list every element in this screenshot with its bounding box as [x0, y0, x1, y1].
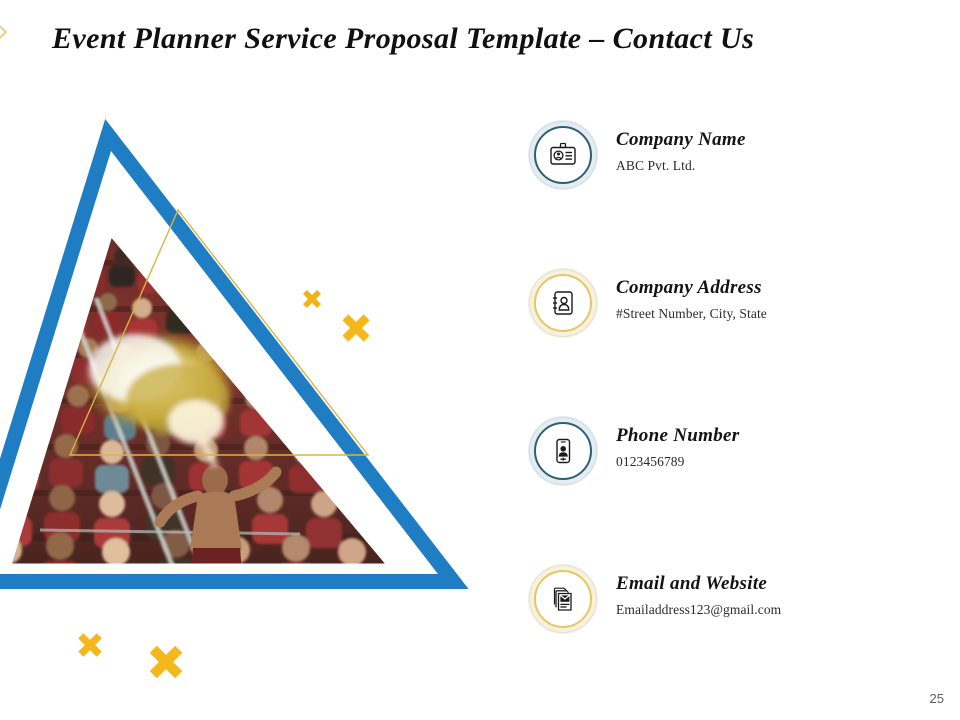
document-envelope-icon — [534, 570, 592, 628]
artwork-panel — [0, 110, 470, 640]
contact-list: Company Name ABC Pvt. Ltd. Company Addre… — [534, 126, 944, 666]
page-number: 25 — [930, 691, 944, 706]
contact-text-block: Phone Number 0123456789 — [616, 424, 936, 471]
contact-value: #Street Number, City, State — [616, 305, 936, 323]
contact-row-phone-number: Phone Number 0123456789 — [534, 422, 944, 570]
cross-mark-icon-2 — [341, 313, 371, 343]
mobile-contact-icon — [534, 422, 592, 480]
contact-value: ABC Pvt. Ltd. — [616, 157, 936, 175]
cross-mark-icon-4 — [148, 644, 184, 680]
contact-title: Company Address — [616, 276, 936, 300]
id-badge-icon — [534, 126, 592, 184]
page-title: Event Planner Service Proposal Template … — [52, 22, 912, 56]
contact-text-block: Company Address #Street Number, City, St… — [616, 276, 936, 323]
contact-row-company-address: Company Address #Street Number, City, St… — [534, 274, 944, 422]
contact-text-block: Email and Website Emailaddress123@gmail.… — [616, 572, 936, 619]
contact-text-block: Company Name ABC Pvt. Ltd. — [616, 128, 936, 175]
contact-value: 0123456789 — [616, 453, 936, 471]
contact-title: Phone Number — [616, 424, 936, 448]
contact-row-email-website: Email and Website Emailaddress123@gmail.… — [534, 570, 944, 666]
cross-mark-icon-3 — [77, 632, 103, 658]
slide-canvas: Event Planner Service Proposal Template … — [0, 0, 960, 720]
contact-title: Email and Website — [616, 572, 936, 596]
address-book-icon — [534, 274, 592, 332]
contact-title: Company Name — [616, 128, 936, 152]
header-chevron-icon — [0, 0, 34, 66]
contact-row-company-name: Company Name ABC Pvt. Ltd. — [534, 126, 944, 274]
cross-mark-icon-1 — [302, 289, 322, 309]
contact-value: Emailaddress123@gmail.com — [616, 601, 936, 619]
